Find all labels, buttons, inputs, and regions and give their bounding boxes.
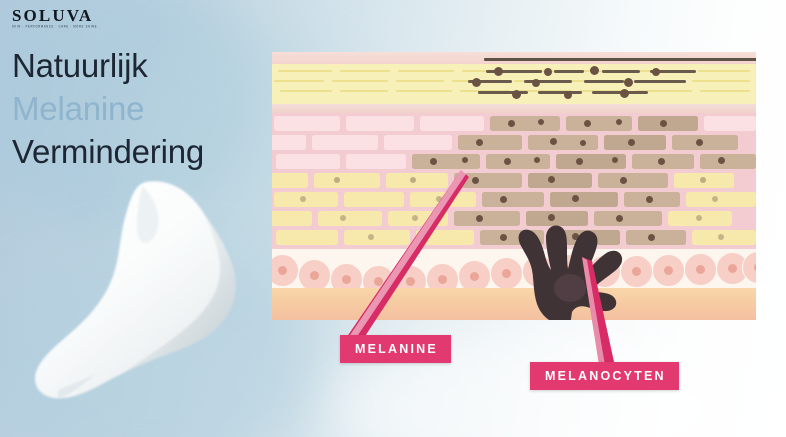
basal-layer — [272, 249, 756, 293]
brand-logo: SOLUVA SKIN · PERFORMANCE · CARE · MORE … — [12, 7, 132, 29]
stratum-granulosum-layer — [272, 64, 756, 104]
title-line-2: Melanine — [12, 88, 272, 131]
brand-wordmark: SOLUVA — [12, 7, 132, 24]
page-title: Natuurlijk Melanine Vermindering — [12, 45, 272, 174]
skin-cross-section-diagram — [272, 52, 756, 320]
title-line-3: Vermindering — [12, 131, 272, 174]
brand-tagline: SKIN · PERFORMANCE · CARE · MORE SHINE — [12, 26, 132, 29]
stratum-spinosum-layer — [272, 113, 756, 249]
slide-canvas: SOLUVA SKIN · PERFORMANCE · CARE · MORE … — [0, 0, 786, 437]
label-melanine[interactable]: MELANINE — [340, 335, 451, 363]
corneum-dark-rule — [484, 58, 756, 61]
dermis-layer — [272, 288, 756, 320]
label-melanocyten[interactable]: MELANOCYTEN — [530, 362, 679, 390]
cream-swatch-image — [18, 176, 266, 408]
layer-separator — [272, 104, 756, 113]
title-line-1: Natuurlijk — [12, 45, 272, 88]
